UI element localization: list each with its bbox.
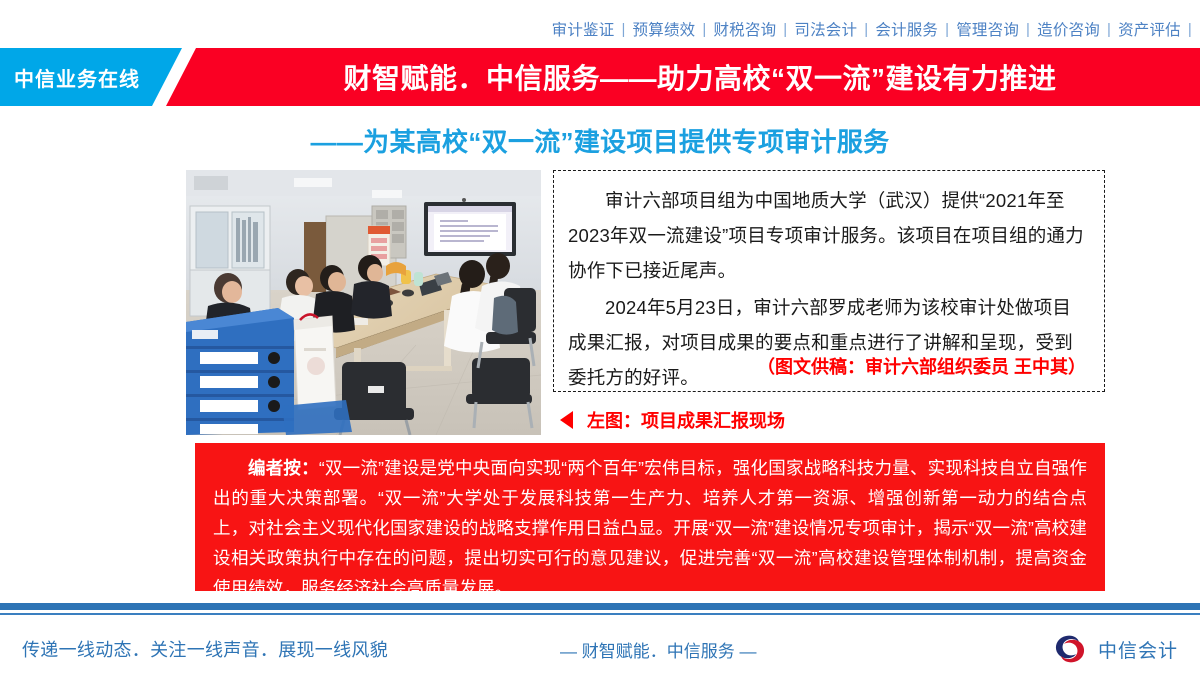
banner-title: 财智赋能．中信服务——助力高校“双一流”建设有力推进 — [200, 48, 1200, 106]
top-nav-item-2[interactable]: 预算绩效 — [626, 18, 703, 40]
header-banner: 中信业务在线 财智赋能．中信服务——助力高校“双一流”建设有力推进 — [0, 48, 1200, 106]
top-nav-item-4[interactable]: 司法会计 — [787, 18, 864, 40]
footer-slogan-left: 传递一线动态．关注一线声音．展现一线风貌 — [22, 636, 388, 662]
article-text-box: 审计六部项目组为中国地质大学（武汉）提供“2021年至2023年双一流建设”项目… — [553, 170, 1105, 392]
meeting-photo-image — [186, 170, 541, 435]
footer-slogan-center: — 财智赋能．中信服务 — — [560, 637, 756, 662]
citic-swirl-icon — [1052, 632, 1088, 666]
top-nav-item-8[interactable]: 资产评估 — [1111, 18, 1188, 40]
top-nav-item-6[interactable]: 管理咨询 — [949, 18, 1026, 40]
triangle-left-icon — [560, 411, 573, 429]
top-nav-item-1[interactable]: 审计鉴证 — [545, 18, 622, 40]
editor-note-body: “双一流”建设是党中央面向实现“两个百年”宏伟目标，强化国家战略科技力量、实现科… — [213, 458, 1087, 598]
top-nav-item-7[interactable]: 造价咨询 — [1030, 18, 1107, 40]
footer-divider-bar — [0, 603, 1200, 610]
top-nav-item-5[interactable]: 会计服务 — [868, 18, 945, 40]
editor-note-label: 编者按： — [248, 458, 319, 478]
footer-divider-rule — [0, 613, 1200, 615]
editor-note-box: 编者按：“双一流”建设是党中央面向实现“两个百年”宏伟目标，强化国家战略科技力量… — [195, 443, 1105, 591]
top-nav-separator: | — [1188, 21, 1192, 38]
photo-caption: 左图：项目成果汇报现场 — [560, 407, 785, 433]
footer: 传递一线动态．关注一线声音．展现一线风貌 — 财智赋能．中信服务 — 中信会计 — [0, 618, 1200, 680]
meeting-photo — [186, 170, 541, 435]
brand-name: 中信会计 — [1098, 636, 1178, 663]
page-subtitle: ——为某高校“双一流”建设项目提供专项审计服务 — [0, 122, 1200, 159]
brand-logo: 中信会计 — [1052, 632, 1178, 666]
top-navigation-list: 审计鉴证|预算绩效|财税咨询|司法会计|会计服务|管理咨询|造价咨询|资产评估| — [545, 18, 1192, 40]
banner-badge-label: 中信业务在线 — [0, 63, 140, 92]
top-navigation: 审计鉴证|预算绩效|财税咨询|司法会计|会计服务|管理咨询|造价咨询|资产评估| — [0, 16, 1200, 42]
article-paragraph-1: 审计六部项目组为中国地质大学（武汉）提供“2021年至2023年双一流建设”项目… — [568, 183, 1088, 288]
editor-note-text: 编者按：“双一流”建设是党中央面向实现“两个百年”宏伟目标，强化国家战略科技力量… — [213, 453, 1087, 603]
top-nav-item-3[interactable]: 财税咨询 — [706, 18, 783, 40]
article-attribution: （图文供稿：审计六部组织委员 王中其） — [757, 353, 1086, 379]
article-paragraph-2: 2024年5月23日，审计六部罗成老师为该校审计处做项目成果汇报，对项目成果的要… — [568, 290, 1088, 395]
photo-caption-text: 左图：项目成果汇报现场 — [587, 407, 785, 433]
